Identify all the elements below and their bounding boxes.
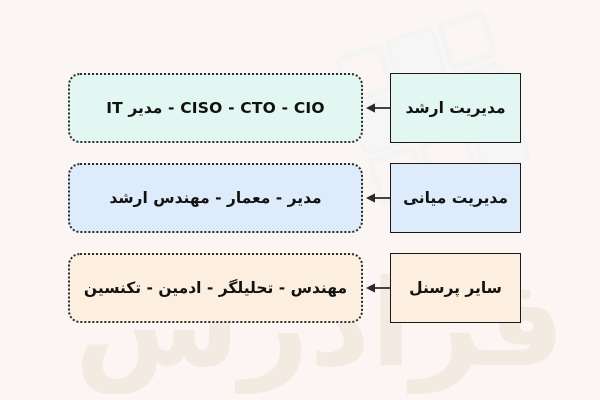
job-titles-box-staff[interactable]: مهندس - تحلیلگر - ادمین - تکنسین bbox=[68, 253, 363, 323]
arrow-left-icon bbox=[366, 281, 392, 295]
tier-box-senior-management[interactable]: مدیریت ارشد bbox=[390, 73, 521, 143]
job-titles-label: مهندس - تحلیلگر - ادمین - تکنسین bbox=[84, 279, 347, 297]
tier-label: سایر پرسنل bbox=[409, 279, 502, 297]
hierarchy-row: مهندس - تحلیلگر - ادمین - تکنسین سایر پر… bbox=[0, 248, 600, 328]
hierarchy-row: مدیر - معمار - مهندس ارشد مدیریت میانی bbox=[0, 158, 600, 238]
tier-box-middle-management[interactable]: مدیریت میانی bbox=[390, 163, 521, 233]
arrow-left-icon bbox=[366, 191, 392, 205]
job-titles-box-senior[interactable]: CISO - CTO - CIO - مدیر IT bbox=[68, 73, 363, 143]
tier-label: مدیریت میانی bbox=[403, 189, 508, 207]
diagram-canvas: فرادرس CISO - CTO - CIO - مدیر IT مدیریت… bbox=[0, 0, 600, 400]
hierarchy-row: CISO - CTO - CIO - مدیر IT مدیریت ارشد bbox=[0, 68, 600, 148]
arrow-left-icon bbox=[366, 101, 392, 115]
job-titles-label: مدیر - معمار - مهندس ارشد bbox=[109, 189, 321, 207]
job-titles-box-middle[interactable]: مدیر - معمار - مهندس ارشد bbox=[68, 163, 363, 233]
tier-label: مدیریت ارشد bbox=[405, 99, 505, 117]
tier-box-other-personnel[interactable]: سایر پرسنل bbox=[390, 253, 521, 323]
job-titles-label: CISO - CTO - CIO - مدیر IT bbox=[106, 99, 325, 117]
